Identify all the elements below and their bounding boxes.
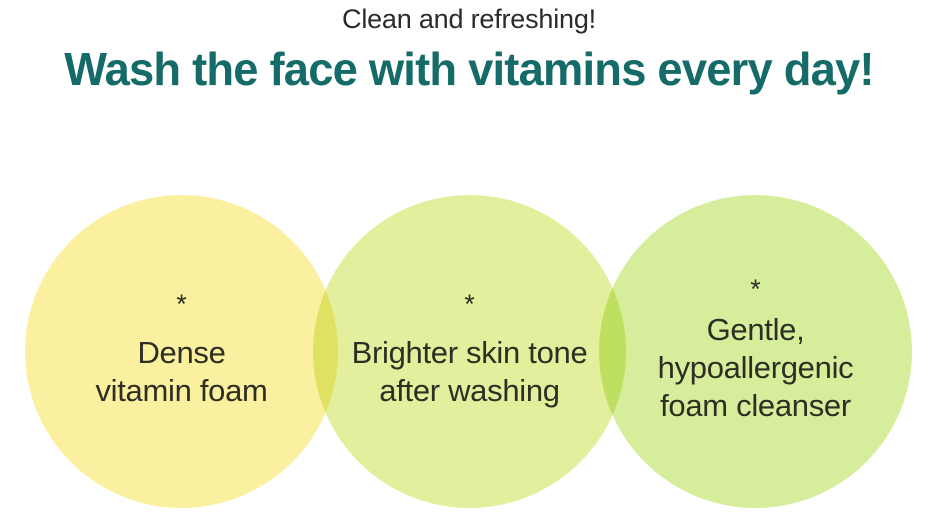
venn-labels: * Dense vitamin foam * Brighter skin ton… xyxy=(0,195,938,517)
asterisk-icon: * xyxy=(176,294,187,314)
venn-label-2-line-2: after washing xyxy=(379,372,559,410)
venn-label-brighter-skin-tone: * Brighter skin tone after washing xyxy=(313,195,626,508)
venn-label-3-line-2: hypoallergenic xyxy=(658,349,854,387)
venn-label-1-line-2: vitamin foam xyxy=(95,372,267,410)
venn-label-2-lines: Brighter skin tone after washing xyxy=(352,334,588,410)
promo-banner: Clean and refreshing! Wash the face with… xyxy=(0,0,938,517)
banner-subtitle: Clean and refreshing! xyxy=(0,0,938,36)
asterisk-icon: * xyxy=(464,294,475,314)
banner-header: Clean and refreshing! Wash the face with… xyxy=(0,0,938,96)
venn-label-3-line-3: foam cleanser xyxy=(660,387,851,425)
banner-headline: Wash the face with vitamins every day! xyxy=(7,36,931,96)
venn-label-2-line-1: Brighter skin tone xyxy=(352,334,588,372)
venn-label-gentle-foam-cleanser: * Gentle, hypoallergenic foam cleanser xyxy=(599,195,912,508)
venn-label-3-lines: Gentle, hypoallergenic foam cleanser xyxy=(658,311,854,425)
venn-label-dense-vitamin-foam: * Dense vitamin foam xyxy=(25,195,338,508)
venn-label-1-line-1: Dense xyxy=(137,334,225,372)
venn-label-1-lines: Dense vitamin foam xyxy=(95,334,267,410)
asterisk-icon: * xyxy=(750,279,761,299)
venn-label-3-line-1: Gentle, xyxy=(707,311,805,349)
